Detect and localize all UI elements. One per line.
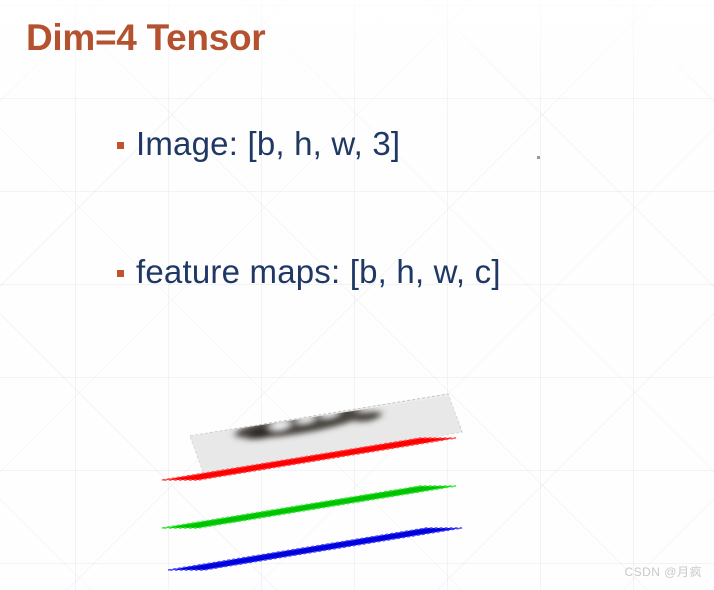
page-title: Dim=4 Tensor: [26, 17, 265, 59]
slide-canvas: Dim=4 Tensor Image: [b, h, w, 3] feature…: [0, 0, 714, 590]
plane-original-image: [190, 389, 462, 474]
csdn-watermark: CSDN @月疯: [624, 563, 702, 580]
bullet-item-image: Image: [b, h, w, 3]: [117, 125, 400, 163]
square-bullet-icon: [117, 142, 124, 149]
bullet-item-label: feature maps: [b, h, w, c]: [136, 253, 501, 291]
bullet-item-feature-maps: feature maps: [b, h, w, c]: [117, 253, 501, 291]
stray-dot-artifact: [537, 156, 540, 159]
square-bullet-icon: [117, 270, 124, 277]
rgb-channel-stack-illustration: [150, 388, 470, 576]
plane-blue-channel: [168, 502, 462, 570]
bullet-item-label: Image: [b, h, w, 3]: [136, 125, 400, 163]
